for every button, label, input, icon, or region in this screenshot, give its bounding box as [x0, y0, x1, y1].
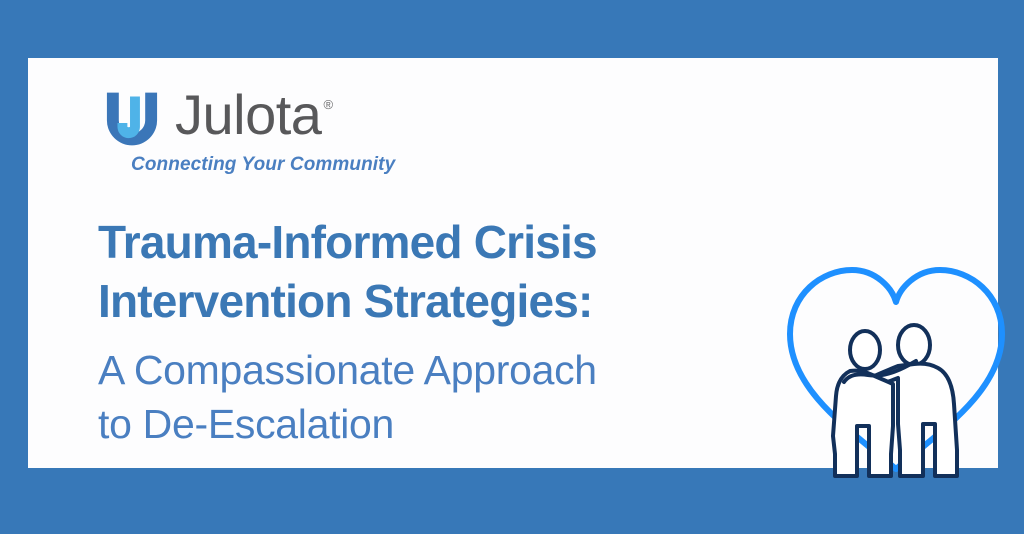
brand-logo: Julota ® Connecting Your Community — [99, 84, 519, 176]
title-line-2: Intervention Strategies: — [98, 275, 593, 327]
content-card: Julota ® Connecting Your Community Traum… — [28, 58, 998, 468]
registered-trademark-icon: ® — [323, 98, 333, 111]
brand-wordmark: Julota — [175, 84, 321, 146]
brand-tagline: Connecting Your Community — [131, 154, 519, 176]
title-line-1: Trauma-Informed Crisis — [98, 216, 597, 268]
headline-block: Trauma-Informed Crisis Intervention Stra… — [98, 213, 778, 451]
heart-with-people-illustration — [776, 254, 1016, 494]
logo-row: Julota ® — [99, 84, 519, 152]
subtitle-line-2: to De-Escalation — [98, 401, 394, 447]
wordmark-wrap: Julota ® — [175, 84, 333, 146]
page-subtitle: A Compassionate Approach to De-Escalatio… — [98, 343, 778, 451]
promo-banner: Julota ® Connecting Your Community Traum… — [0, 0, 1024, 534]
subtitle-line-1: A Compassionate Approach — [98, 347, 597, 393]
julota-logo-icon — [99, 86, 165, 152]
page-title: Trauma-Informed Crisis Intervention Stra… — [98, 213, 778, 331]
